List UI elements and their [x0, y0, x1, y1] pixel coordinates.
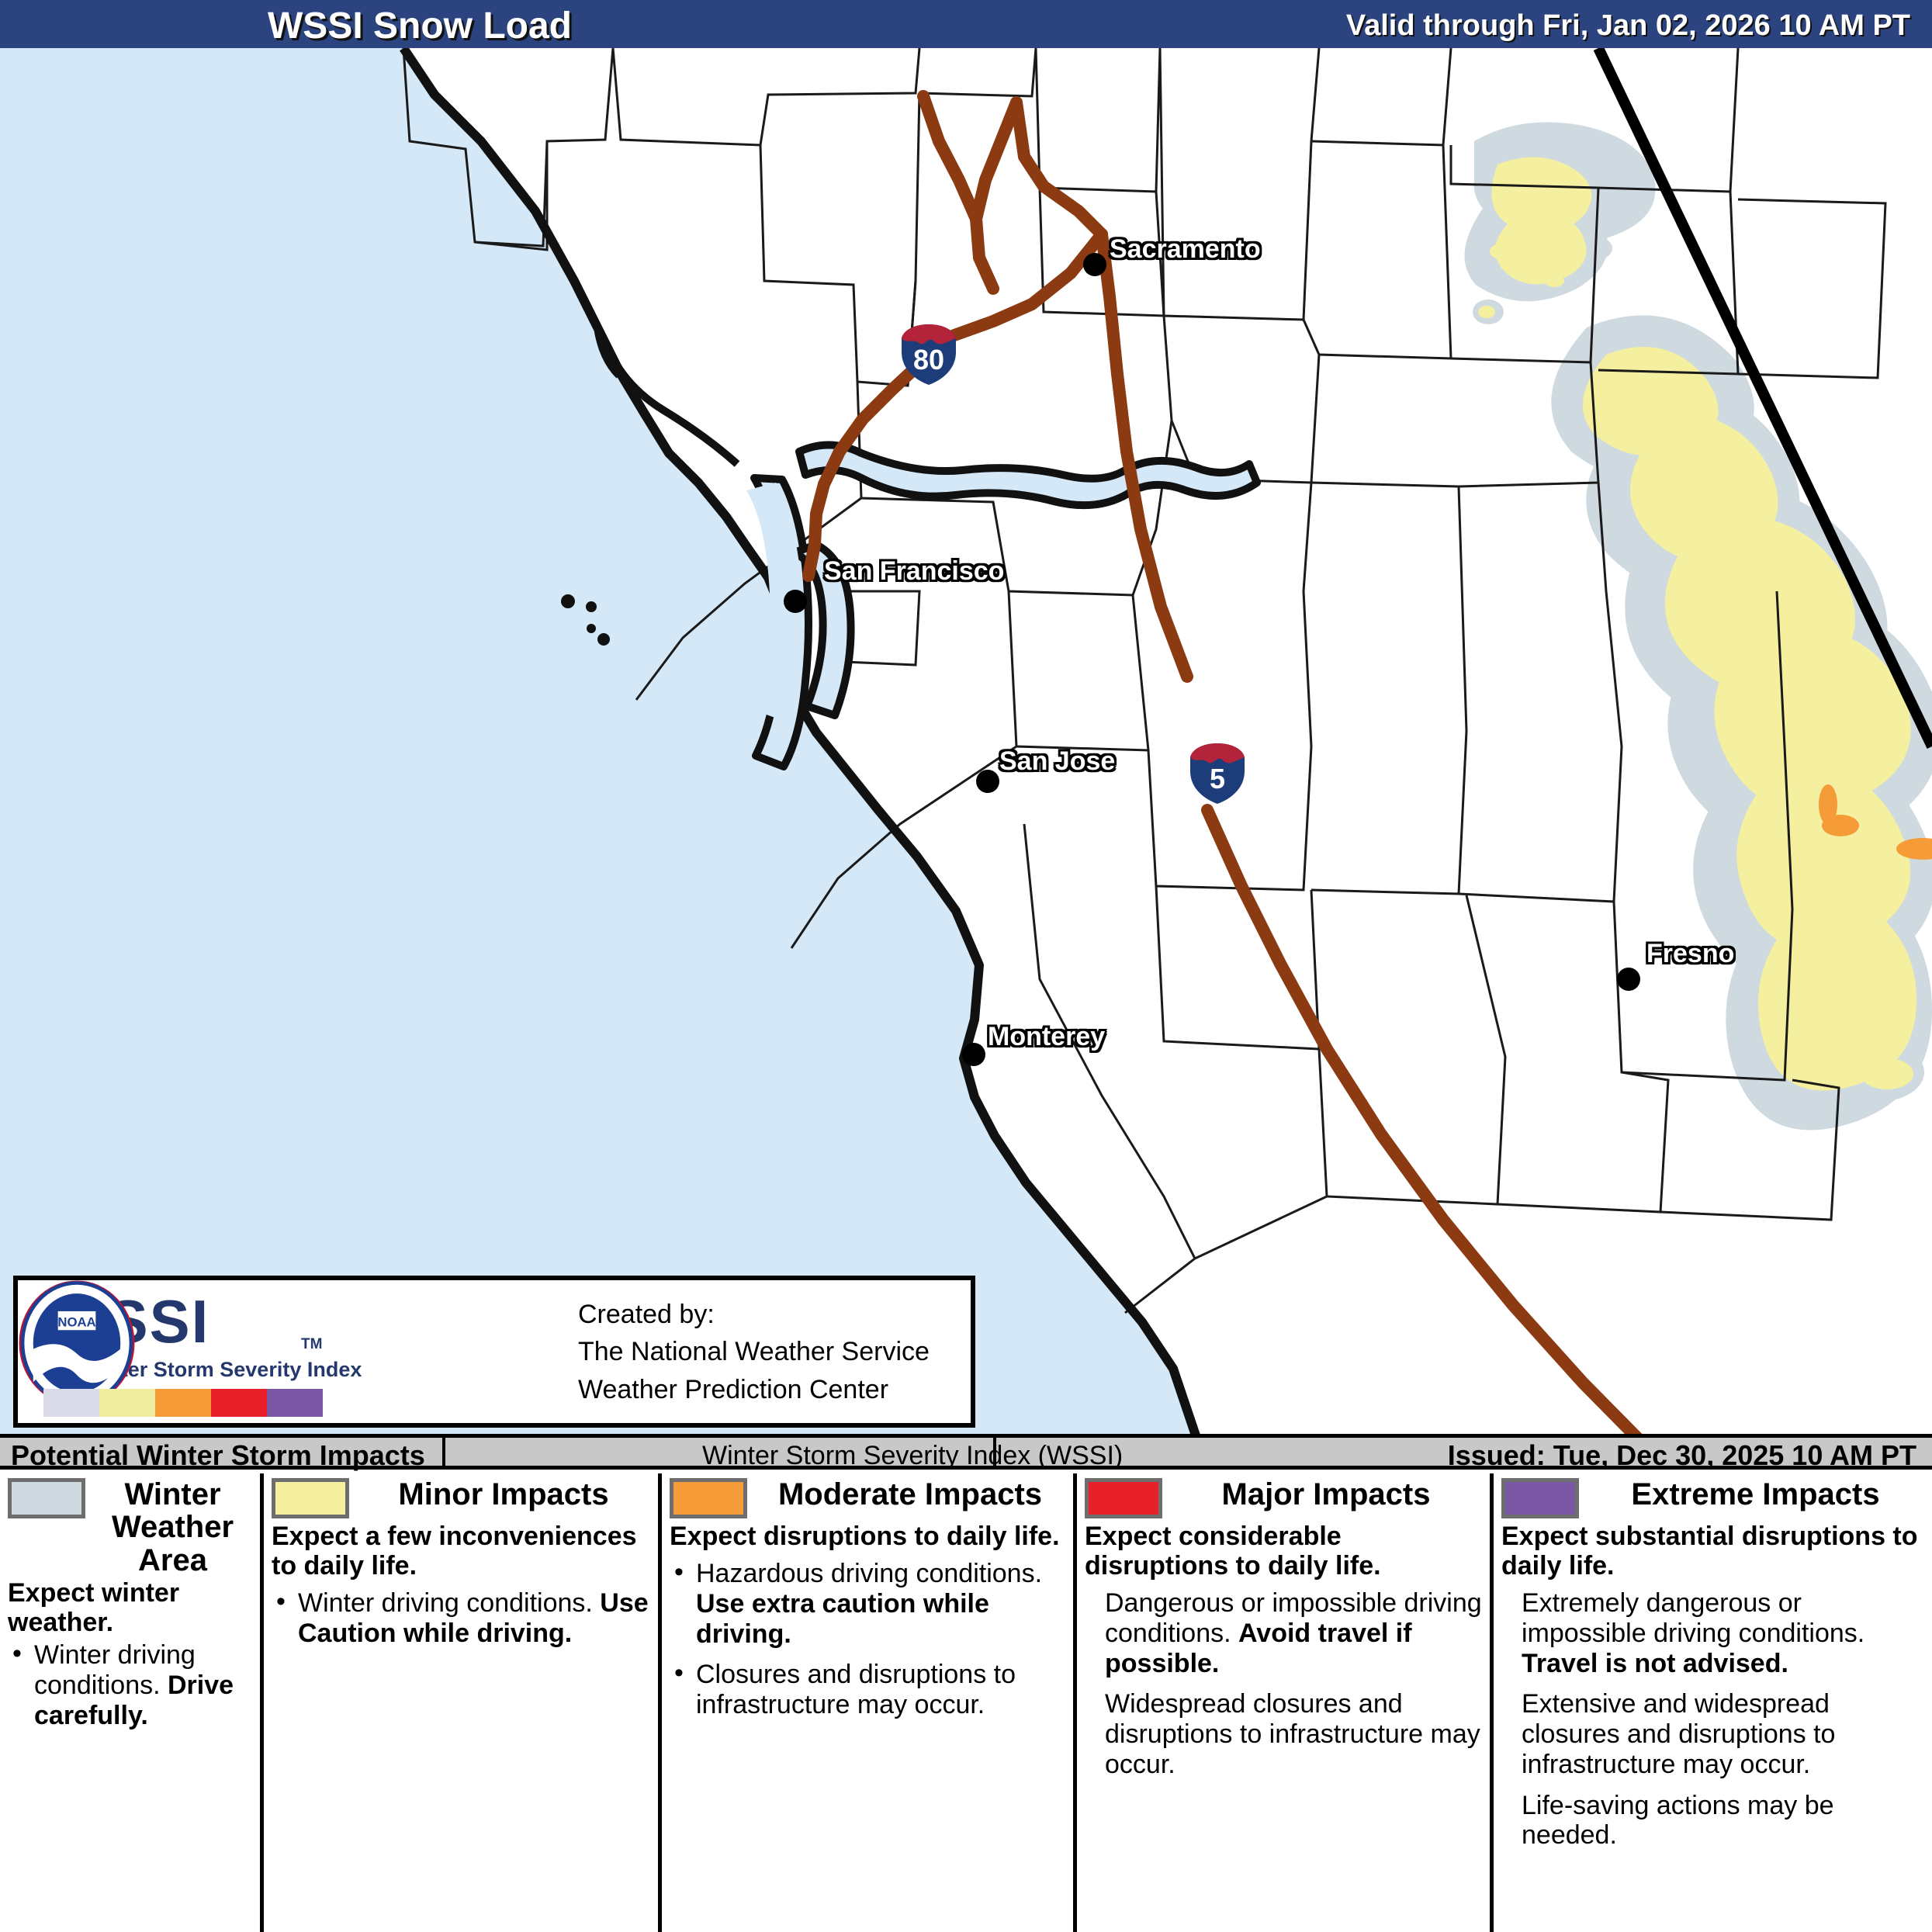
wssi-full-name-label: Winter Storm Severity Index (WSSI): [702, 1441, 1123, 1471]
city-dot-sacramento: [1083, 253, 1106, 276]
legend-swatch-moderate-impacts: [670, 1478, 747, 1518]
interstate-80-number: 80: [913, 344, 944, 376]
legend-swatch-winter-weather-area: [8, 1478, 85, 1518]
legend-column-extreme-impacts[interactable]: Extreme Impacts Expect substantial disru…: [1494, 1473, 1932, 1932]
legend-swatch-major-impacts: [1085, 1478, 1162, 1518]
city-dot-fresno: [1617, 968, 1640, 991]
legend-lead-moderate-impacts: Expect disruptions to daily life.: [670, 1522, 1065, 1551]
title-bar: WSSI Snow Load Valid through Fri, Jan 02…: [0, 0, 1932, 48]
legend-item: Extremely dangerous or impossible drivin…: [1501, 1588, 1924, 1678]
legend-swatch-minor-impacts: [272, 1478, 349, 1518]
created-by-line-2: The National Weather Service: [578, 1333, 930, 1370]
legend-items-minor-impacts: Winter driving conditions. Use Caution w…: [272, 1588, 650, 1649]
created-by-block: Created by: The National Weather Service…: [578, 1296, 930, 1408]
map-graphics: [0, 48, 1932, 1438]
legend-title-minor-impacts: Minor Impacts: [357, 1478, 650, 1511]
legend-item: Extensive and widespread closures and di…: [1501, 1689, 1924, 1779]
city-label-san-jose: San Jose: [999, 746, 1115, 777]
noaa-seal-icon: NOAA: [18, 1280, 136, 1406]
strip-swatch-moderate: [155, 1389, 211, 1417]
legend-item: Winter driving conditions. Drive careful…: [8, 1640, 252, 1730]
strip-swatch-extreme: [267, 1389, 323, 1417]
strip-swatch-winter-weather: [43, 1389, 99, 1417]
strip-swatch-major: [211, 1389, 267, 1417]
legend-header: Winter Weather Area: [8, 1478, 252, 1577]
impact-legend: Winter Weather Area Expect winter weathe…: [0, 1473, 1932, 1932]
created-by-line-1: Created by:: [578, 1296, 930, 1333]
legend-item: Winter driving conditions. Use Caution w…: [272, 1588, 650, 1649]
interstate-80-shield[interactable]: 80: [898, 321, 959, 388]
issued-label: Issued: Tue, Dec 30, 2025 10 AM PT: [1448, 1439, 1916, 1472]
city-label-fresno: Fresno: [1646, 939, 1734, 969]
wssi-snow-load-map-page: WSSI Snow Load Valid through Fri, Jan 02…: [0, 0, 1932, 1932]
svg-text:NOAA: NOAA: [57, 1315, 95, 1330]
interstate-5-number: 5: [1210, 763, 1225, 795]
potential-impacts-label: Potential Winter Storm Impacts: [11, 1439, 425, 1472]
interstate-5-shield[interactable]: 5: [1187, 740, 1248, 807]
wssi-severity-color-strip: [43, 1389, 323, 1417]
legend-item: Hazardous driving conditions. Use extra …: [670, 1559, 1065, 1649]
legend-items-extreme-impacts: Extremely dangerous or impossible drivin…: [1501, 1588, 1924, 1851]
legend-title-moderate-impacts: Moderate Impacts: [755, 1478, 1065, 1511]
legend-column-moderate-impacts[interactable]: Moderate Impacts Expect disruptions to d…: [662, 1473, 1077, 1932]
city-label-sacramento: Sacramento: [1110, 234, 1261, 265]
valid-through-label: Valid through Fri, Jan 02, 2026 10 AM PT: [1346, 9, 1910, 43]
city-label-san-francisco: San Francisco: [824, 556, 1004, 587]
legend-lead-winter-weather-area: Expect winter weather.: [8, 1578, 252, 1637]
legend-items-major-impacts: Dangerous or impossible driving conditio…: [1085, 1588, 1482, 1780]
legend-title-winter-weather-area: Winter Weather Area: [93, 1478, 252, 1577]
legend-title-extreme-impacts: Extreme Impacts: [1587, 1478, 1924, 1511]
city-label-monterey: Monterey: [988, 1022, 1105, 1052]
legend-swatch-extreme-impacts: [1501, 1478, 1579, 1518]
city-dot-san-francisco: [784, 590, 807, 613]
legend-header: Minor Impacts: [272, 1478, 650, 1518]
legend-title-major-impacts: Major Impacts: [1170, 1478, 1482, 1511]
legend-lead-minor-impacts: Expect a few inconveniences to daily lif…: [272, 1522, 650, 1581]
status-divider-1: [442, 1438, 445, 1466]
created-by-line-3: Weather Prediction Center: [578, 1371, 930, 1408]
wssi-trademark-mark: TM: [301, 1336, 322, 1353]
legend-lead-extreme-impacts: Expect substantial disruptions to daily …: [1501, 1522, 1924, 1581]
legend-header: Major Impacts: [1085, 1478, 1482, 1518]
city-dot-monterey: [962, 1043, 985, 1066]
legend-column-winter-weather-area[interactable]: Winter Weather Area Expect winter weathe…: [0, 1473, 264, 1932]
strip-swatch-minor: [99, 1389, 155, 1417]
legend-item: Widespread closures and disruptions to i…: [1085, 1689, 1482, 1779]
legend-item: Dangerous or impossible driving conditio…: [1085, 1588, 1482, 1678]
legend-item: Closures and disruptions to infrastructu…: [670, 1660, 1065, 1720]
legend-header: Extreme Impacts: [1501, 1478, 1924, 1518]
legend-items-moderate-impacts: Hazardous driving conditions. Use extra …: [670, 1559, 1065, 1720]
legend-column-major-impacts[interactable]: Major Impacts Expect considerable disrup…: [1077, 1473, 1494, 1932]
legend-items-winter-weather-area: Winter driving conditions. Drive careful…: [8, 1640, 252, 1730]
status-bar: Potential Winter Storm Impacts Winter St…: [0, 1434, 1932, 1470]
legend-header: Moderate Impacts: [670, 1478, 1065, 1518]
map-canvas[interactable]: 80 5 Sacramento San Francisco San Jose F…: [0, 48, 1932, 1438]
legend-lead-major-impacts: Expect considerable disruptions to daily…: [1085, 1522, 1482, 1581]
legend-column-minor-impacts[interactable]: Minor Impacts Expect a few inconvenience…: [264, 1473, 662, 1932]
page-title: WSSI Snow Load: [268, 5, 572, 47]
city-dot-san-jose: [976, 770, 999, 793]
legend-item: Life-saving actions may be needed.: [1501, 1791, 1924, 1851]
